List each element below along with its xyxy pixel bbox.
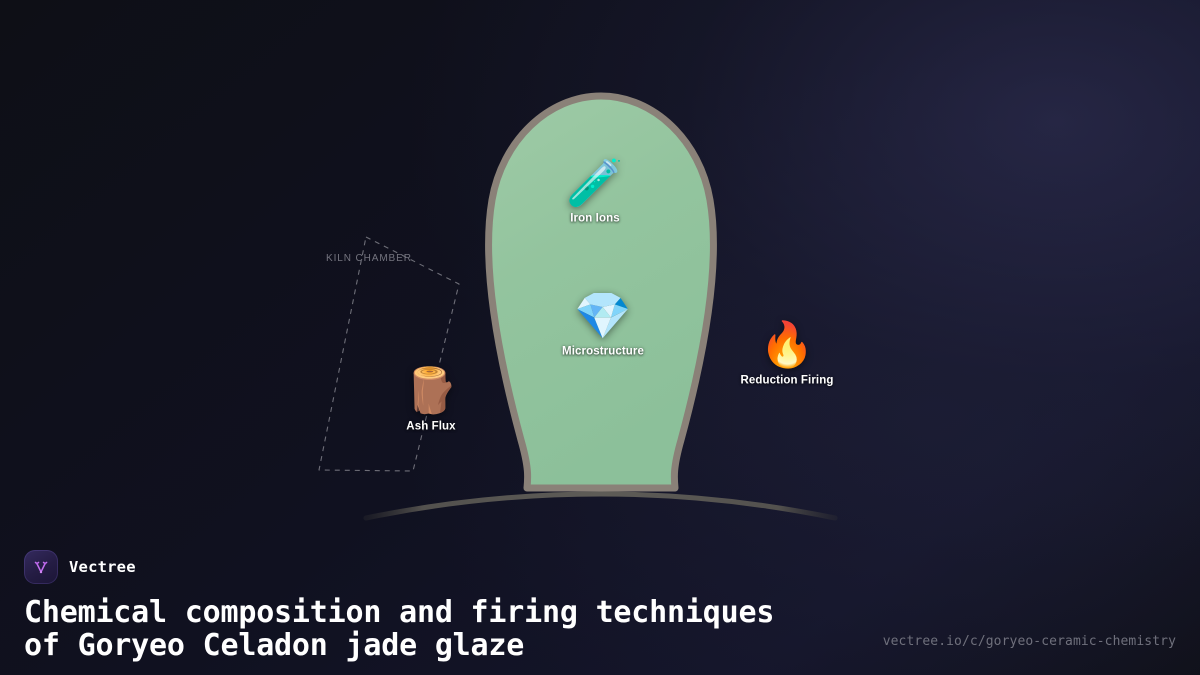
fire-icon: 🔥 (760, 324, 815, 368)
node-label-reduction-firing: Reduction Firing (741, 375, 834, 387)
gem-icon: 💎 (574, 293, 631, 339)
node-ash-flux[interactable]: 🪵 Ash Flux (404, 370, 459, 433)
node-microstructure[interactable]: 💎 Microstructure (562, 293, 644, 358)
node-reduction-firing[interactable]: 🔥 Reduction Firing (741, 324, 834, 387)
footer: Vectree Chemical composition and firing … (0, 507, 1200, 675)
page-title: Chemical composition and firing techniqu… (24, 596, 784, 662)
brand[interactable]: Vectree (24, 550, 136, 584)
wood-log-icon: 🪵 (404, 370, 459, 414)
kiln-chamber-region (319, 237, 459, 471)
brand-name: Vectree (69, 558, 136, 576)
vectree-logo-icon (24, 550, 58, 584)
node-iron-ions[interactable]: 🧪 Iron Ions (566, 160, 623, 225)
node-label-microstructure: Microstructure (562, 346, 644, 358)
node-label-ash-flux: Ash Flux (406, 421, 455, 433)
infographic-canvas: KILN CHAMBER 🧪 Iron Ions 💎 Microstructur… (0, 0, 1200, 675)
source-url: vectree.io/c/goryeo-ceramic-chemistry (883, 634, 1176, 649)
test-tube-icon: 🧪 (566, 160, 623, 206)
kiln-chamber-label: KILN CHAMBER (326, 253, 412, 264)
node-label-iron-ions: Iron Ions (570, 213, 619, 225)
